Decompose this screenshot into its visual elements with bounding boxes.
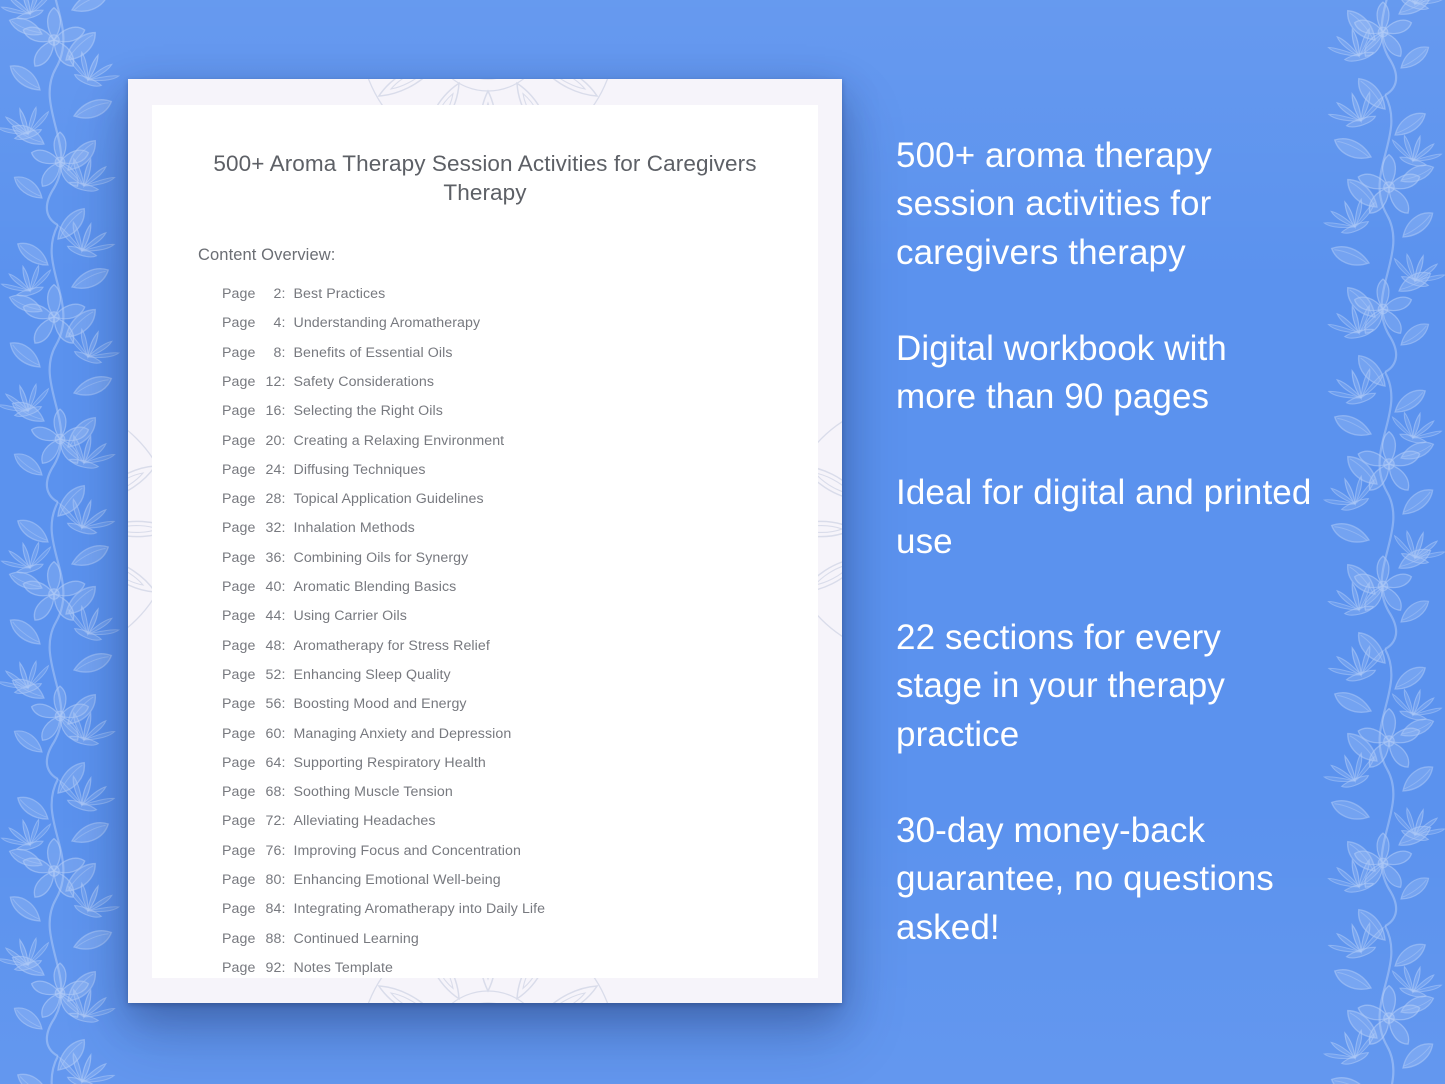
- toc-page-word: Page: [222, 668, 259, 682]
- toc-page-number: 12: [259, 375, 281, 389]
- toc-colon: :: [281, 580, 293, 594]
- floral-vine-border-right-icon: [1315, 0, 1445, 1084]
- toc-page-number: 80: [259, 873, 281, 887]
- toc-entry: Page 88:Continued Learning: [222, 924, 818, 953]
- toc-entry-title: Inhalation Methods: [294, 521, 415, 535]
- promo-line: 22 sections for every stage in your ther…: [896, 614, 1316, 759]
- floral-vine-border-left-icon: [0, 0, 128, 1084]
- toc-colon: :: [281, 375, 293, 389]
- toc-page-word: Page: [222, 639, 259, 653]
- toc-entry: Page 36:Combining Oils for Synergy: [222, 543, 818, 572]
- toc-page-number: 2: [259, 287, 281, 301]
- toc-entry: Page 32:Inhalation Methods: [222, 514, 818, 543]
- toc-page-number: 48: [259, 639, 281, 653]
- toc-entry-title: Creating a Relaxing Environment: [294, 434, 505, 448]
- toc-page-number: 92: [259, 961, 281, 975]
- toc-page-number: 44: [259, 609, 281, 623]
- toc-page-number: 40: [259, 580, 281, 594]
- toc-page-word: Page: [222, 551, 259, 565]
- toc-page-word: Page: [222, 727, 259, 741]
- toc-entry: Page 8:Benefits of Essential Oils: [222, 338, 818, 367]
- toc-page-number: 20: [259, 434, 281, 448]
- toc-entry: Page 2:Best Practices: [222, 280, 818, 309]
- toc-page-word: Page: [222, 873, 259, 887]
- toc-page-word: Page: [222, 434, 259, 448]
- toc-colon: :: [281, 346, 293, 360]
- toc-page-number: 36: [259, 551, 281, 565]
- toc-entry-title: Aromatic Blending Basics: [294, 580, 457, 594]
- toc-entry-title: Enhancing Sleep Quality: [294, 668, 451, 682]
- toc-page-word: Page: [222, 404, 259, 418]
- toc-colon: :: [281, 609, 293, 623]
- toc-entry-title: Combining Oils for Synergy: [294, 551, 469, 565]
- toc-page-number: 8: [259, 346, 281, 360]
- toc-entry-title: Notes Template: [294, 961, 393, 975]
- toc-entry-title: Continued Learning: [294, 932, 419, 946]
- toc-page-word: Page: [222, 756, 259, 770]
- toc-entry-title: Selecting the Right Oils: [294, 404, 443, 418]
- product-listing-image: 500+ Aroma Therapy Session Activities fo…: [0, 0, 1445, 1084]
- toc-entry: Page 4:Understanding Aromatherapy: [222, 309, 818, 338]
- toc-colon: :: [281, 756, 293, 770]
- toc-colon: :: [281, 814, 293, 828]
- toc-page-number: 88: [259, 932, 281, 946]
- toc-entry-title: Safety Considerations: [294, 375, 434, 389]
- toc-entry: Page 44:Using Carrier Oils: [222, 602, 818, 631]
- toc-colon: :: [281, 727, 293, 741]
- toc-page-number: 60: [259, 727, 281, 741]
- toc-colon: :: [281, 961, 293, 975]
- toc-page-word: Page: [222, 844, 259, 858]
- toc-page-word: Page: [222, 316, 259, 330]
- toc-page-word: Page: [222, 492, 259, 506]
- toc-entry-title: Soothing Muscle Tension: [294, 785, 453, 799]
- toc-colon: :: [281, 551, 293, 565]
- page-title: 500+ Aroma Therapy Session Activities fo…: [152, 105, 818, 208]
- toc-colon: :: [281, 434, 293, 448]
- toc-entry: Page 12:Safety Considerations: [222, 367, 818, 396]
- toc-entry-title: Enhancing Emotional Well-being: [294, 873, 501, 887]
- toc-page-word: Page: [222, 902, 259, 916]
- toc-page-word: Page: [222, 375, 259, 389]
- toc-colon: :: [281, 902, 293, 916]
- toc-colon: :: [281, 932, 293, 946]
- toc-entry: Page 80:Enhancing Emotional Well-being: [222, 865, 818, 894]
- toc-entry-title: Topical Application Guidelines: [294, 492, 484, 506]
- toc-page-number: 84: [259, 902, 281, 916]
- toc-entry: Page 72:Alleviating Headaches: [222, 807, 818, 836]
- toc-colon: :: [281, 463, 293, 477]
- toc-colon: :: [281, 785, 293, 799]
- toc-page-number: 28: [259, 492, 281, 506]
- toc-page-word: Page: [222, 521, 259, 535]
- toc-entry: Page 48:Aromatherapy for Stress Relief: [222, 631, 818, 660]
- content-overview-label: Content Overview:: [152, 208, 818, 265]
- toc-page-word: Page: [222, 785, 259, 799]
- toc-page-word: Page: [222, 697, 259, 711]
- toc-colon: :: [281, 697, 293, 711]
- toc-page-word: Page: [222, 287, 259, 301]
- toc-entry: Page 52:Enhancing Sleep Quality: [222, 660, 818, 689]
- toc-page-number: 72: [259, 814, 281, 828]
- toc-page-number: 64: [259, 756, 281, 770]
- toc-colon: :: [281, 316, 293, 330]
- toc-page-number: 4: [259, 316, 281, 330]
- toc-page-number: 76: [259, 844, 281, 858]
- toc-page-word: Page: [222, 580, 259, 594]
- toc-entry: Page 24:Diffusing Techniques: [222, 455, 818, 484]
- toc-colon: :: [281, 639, 293, 653]
- toc-entry-title: Integrating Aromatherapy into Daily Life: [294, 902, 546, 916]
- toc-entry: Page 84:Integrating Aromatherapy into Da…: [222, 895, 818, 924]
- document-page: 500+ Aroma Therapy Session Activities fo…: [152, 105, 818, 978]
- toc-colon: :: [281, 521, 293, 535]
- toc-entry-title: Using Carrier Oils: [294, 609, 407, 623]
- promo-line: 500+ aroma therapy session activities fo…: [896, 132, 1316, 277]
- toc-entry-title: Understanding Aromatherapy: [294, 316, 481, 330]
- toc-entry-title: Alleviating Headaches: [294, 814, 436, 828]
- toc-page-word: Page: [222, 961, 259, 975]
- toc-page-number: 68: [259, 785, 281, 799]
- table-of-contents: Page 2:Best PracticesPage 4:Understandin…: [152, 265, 818, 979]
- promo-line: Digital workbook with more than 90 pages: [896, 325, 1316, 422]
- toc-page-number: 24: [259, 463, 281, 477]
- toc-entry: Page 76:Improving Focus and Concentratio…: [222, 836, 818, 865]
- toc-page-number: 52: [259, 668, 281, 682]
- toc-colon: :: [281, 404, 293, 418]
- toc-entry-title: Benefits of Essential Oils: [294, 346, 453, 360]
- toc-entry: Page 40:Aromatic Blending Basics: [222, 572, 818, 601]
- toc-colon: :: [281, 492, 293, 506]
- toc-colon: :: [281, 844, 293, 858]
- toc-entry: Page 64:Supporting Respiratory Health: [222, 748, 818, 777]
- promo-text-column: 500+ aroma therapy session activities fo…: [896, 132, 1316, 952]
- document-card: 500+ Aroma Therapy Session Activities fo…: [128, 79, 842, 1003]
- toc-entry-title: Managing Anxiety and Depression: [294, 727, 512, 741]
- toc-colon: :: [281, 668, 293, 682]
- toc-page-word: Page: [222, 932, 259, 946]
- toc-entry-title: Aromatherapy for Stress Relief: [294, 639, 490, 653]
- toc-page-number: 32: [259, 521, 281, 535]
- toc-page-number: 56: [259, 697, 281, 711]
- toc-entry-title: Diffusing Techniques: [294, 463, 426, 477]
- toc-entry-title: Best Practices: [294, 287, 386, 301]
- toc-entry: Page 16:Selecting the Right Oils: [222, 397, 818, 426]
- toc-colon: :: [281, 873, 293, 887]
- toc-entry: Page 92:Notes Template: [222, 953, 818, 978]
- toc-page-word: Page: [222, 609, 259, 623]
- toc-page-word: Page: [222, 346, 259, 360]
- toc-entry: Page 28:Topical Application Guidelines: [222, 485, 818, 514]
- toc-entry: Page 60:Managing Anxiety and Depression: [222, 719, 818, 748]
- promo-line: Ideal for digital and printed use: [896, 469, 1316, 566]
- toc-entry-title: Boosting Mood and Energy: [294, 697, 467, 711]
- toc-entry: Page 68:Soothing Muscle Tension: [222, 778, 818, 807]
- toc-page-word: Page: [222, 463, 259, 477]
- toc-entry: Page 20:Creating a Relaxing Environment: [222, 426, 818, 455]
- toc-entry-title: Improving Focus and Concentration: [294, 844, 521, 858]
- toc-page-word: Page: [222, 814, 259, 828]
- toc-entry-title: Supporting Respiratory Health: [294, 756, 486, 770]
- toc-page-number: 16: [259, 404, 281, 418]
- toc-colon: :: [281, 287, 293, 301]
- toc-entry: Page 56:Boosting Mood and Energy: [222, 690, 818, 719]
- promo-line: 30-day money-back guarantee, no question…: [896, 807, 1316, 952]
